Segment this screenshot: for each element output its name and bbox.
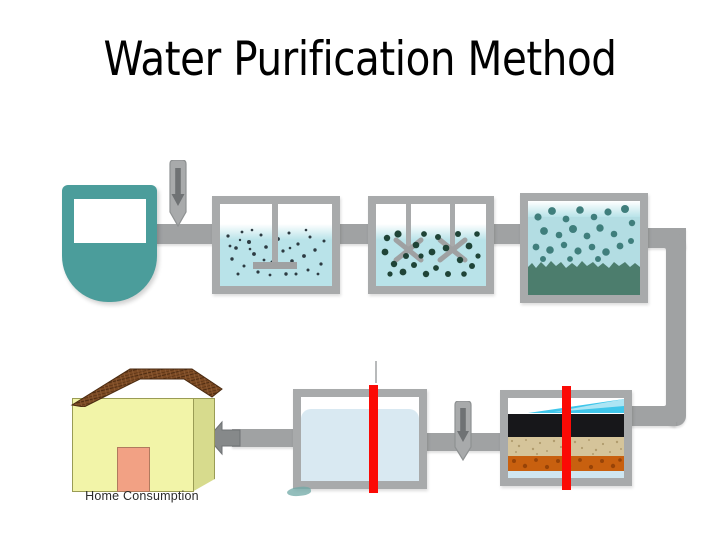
coagulation-tank [212, 196, 340, 294]
storage-red-indicator-bar [369, 385, 378, 493]
storage-outlet-smudge [286, 485, 311, 497]
chemical-dosing-nozzle-2 [452, 401, 474, 463]
source-reservoir [62, 185, 157, 302]
filtration-tank [500, 390, 632, 486]
reservoir-window [74, 199, 146, 243]
sedimentation-tank-interior [528, 201, 640, 295]
storage-clear-water [301, 409, 419, 481]
house-roof-icon [60, 367, 225, 407]
flocculation-tank-interior [376, 204, 486, 286]
coagulation-tank-interior [220, 204, 332, 286]
house-side-wall [192, 398, 215, 492]
sedimentation-tank [520, 193, 648, 303]
page-title: Water Purification Method [50, 32, 669, 88]
storage-tank-interior [301, 397, 419, 481]
filter-red-indicator-bar [562, 386, 571, 490]
sedimentation-sludge-and-particles [528, 201, 640, 295]
diagram-canvas: Water Purification Method [0, 0, 720, 556]
pipe-elbow-top-right [644, 228, 686, 270]
coagulation-mixer-paddle [253, 262, 297, 269]
home-consumption-label: Home Consumption [52, 489, 232, 503]
storage-probe-line [375, 361, 377, 383]
chemical-dosing-nozzle-1 [167, 160, 189, 230]
flocculation-tank [368, 196, 494, 294]
clean-water-storage-tank [293, 389, 427, 489]
house-door [117, 447, 150, 492]
flocculation-mixers-and-flocs [376, 204, 486, 286]
coagulation-mixer-shaft [272, 204, 278, 264]
